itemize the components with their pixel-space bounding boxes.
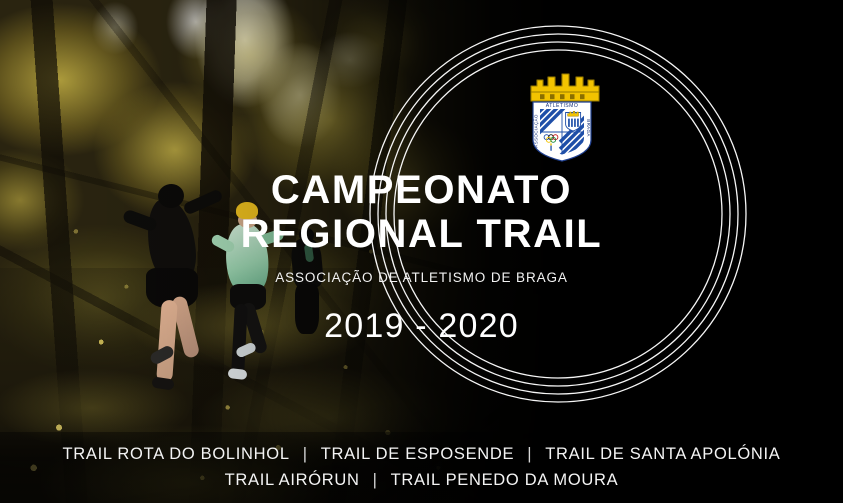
event-name[interactable]: TRAIL AIRÓRUN: [223, 467, 362, 493]
page-title-line-2: REGIONAL TRAIL: [0, 212, 843, 256]
poster-root: ATLETISMO ASSOCIAÇÃO BRAGA: [0, 0, 843, 503]
event-name[interactable]: TRAIL DE ESPOSENDE: [319, 441, 517, 467]
braga-arms-icon: [566, 111, 581, 131]
event-name[interactable]: TRAIL PENEDO DA MOURA: [389, 467, 621, 493]
event-separator: |: [362, 467, 389, 493]
event-name[interactable]: TRAIL ROTA DO BOLINHOL: [61, 441, 292, 467]
associacao-atletismo-braga-crest: ATLETISMO ASSOCIAÇÃO BRAGA: [517, 62, 607, 162]
organization-subtitle: ASSOCIAÇÃO DE ATLETISMO DE BRAGA: [0, 270, 843, 285]
event-list-bar: TRAIL ROTA DO BOLINHOL|TRAIL DE ESPOSEND…: [0, 432, 843, 503]
page-title-line-1: CAMPEONATO: [0, 168, 843, 212]
torch-icon: [550, 143, 552, 151]
crest-band-right: BRAGA: [586, 119, 591, 137]
season-years: 2019 - 2020: [0, 307, 843, 346]
event-row-1: TRAIL ROTA DO BOLINHOL|TRAIL DE ESPOSEND…: [61, 441, 783, 467]
event-separator: |: [292, 441, 319, 467]
title-block: CAMPEONATO REGIONAL TRAIL ASSOCIAÇÃO DE …: [0, 168, 843, 346]
event-name[interactable]: TRAIL DE SANTA APOLÓNIA: [543, 441, 782, 467]
crest-band-left: ASSOCIAÇÃO: [532, 114, 538, 148]
crest-band-top: ATLETISMO: [546, 103, 579, 109]
event-row-2: TRAIL AIRÓRUN|TRAIL PENEDO DA MOURA: [223, 467, 621, 493]
mural-crown-icon: [531, 74, 599, 101]
event-separator: |: [516, 441, 543, 467]
